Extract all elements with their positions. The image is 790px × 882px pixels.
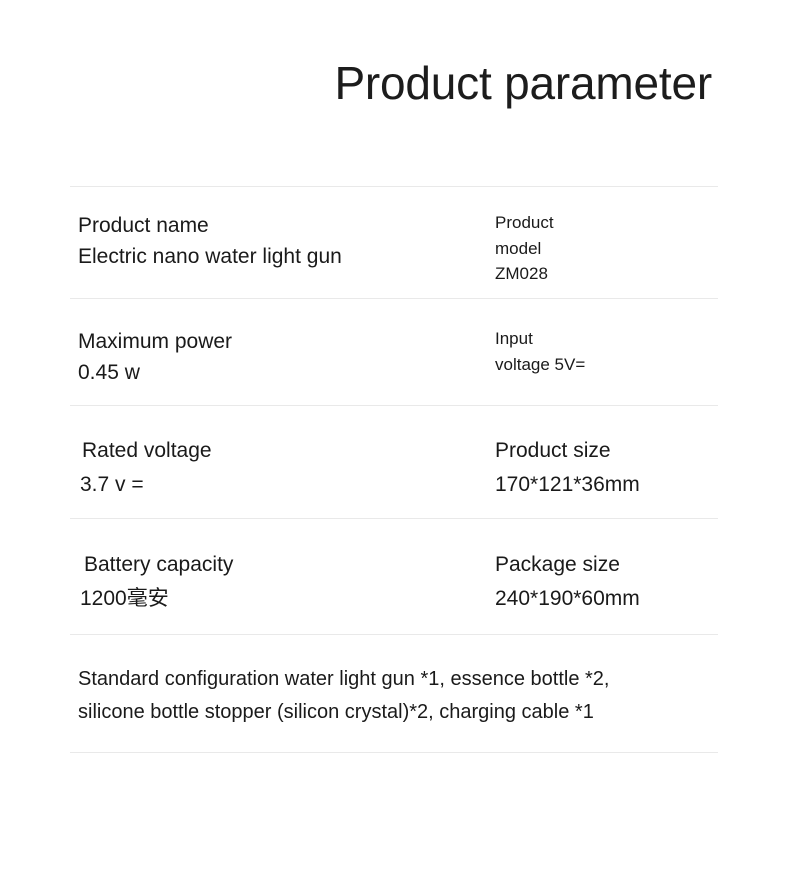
table-divider-bottom: [70, 752, 718, 753]
page-title-container: Product parameter: [0, 58, 712, 109]
specification-table: Product name Electric nano water light g…: [70, 186, 718, 753]
spec-cell-right: Package size 240*190*60mm: [495, 548, 718, 616]
product-parameter-page: Product parameter Product name Electric …: [0, 0, 790, 882]
table-row: Product name Electric nano water light g…: [70, 187, 718, 298]
spec-cell-left: Rated voltage 3.7 v =: [70, 434, 495, 502]
spec-cell-right: Product size 170*121*36mm: [495, 434, 718, 502]
table-row: Rated voltage 3.7 v = Product size 170*1…: [70, 406, 718, 518]
spec-label: Battery capacity: [80, 548, 495, 582]
spec-label: Input: [495, 326, 718, 352]
standard-configuration-note: Standard configuration water light gun *…: [70, 663, 609, 729]
spec-value: 170*121*36mm: [495, 468, 718, 502]
spec-cell-left: Battery capacity 1200毫安: [70, 548, 495, 616]
spec-label: Maximum power: [78, 326, 495, 357]
spec-value: 240*190*60mm: [495, 582, 718, 616]
spec-cell-left: Product name Electric nano water light g…: [70, 210, 495, 272]
spec-cell-right: Input voltage 5V=: [495, 326, 718, 377]
note-line-1: Standard configuration water light gun *…: [78, 663, 609, 696]
spec-value: 3.7 v =: [80, 468, 495, 502]
spec-label: Package size: [495, 548, 718, 582]
spec-label: Rated voltage: [80, 434, 495, 468]
table-row-note: Standard configuration water light gun *…: [70, 635, 718, 752]
spec-value: Electric nano water light gun: [78, 241, 495, 272]
spec-label: Product size: [495, 434, 718, 468]
spec-cell-left: Maximum power 0.45 w: [70, 326, 495, 388]
spec-label: Product name: [78, 210, 495, 241]
spec-value: ZM028: [495, 261, 718, 287]
table-row: Maximum power 0.45 w Input voltage 5V=: [70, 299, 718, 405]
spec-label-line1: Product: [495, 210, 718, 236]
spec-value: 0.45 w: [78, 357, 495, 388]
spec-value: voltage 5V=: [495, 352, 718, 378]
spec-label-line2: model: [495, 236, 718, 262]
spec-cell-right: Product model ZM028: [495, 210, 718, 287]
note-line-2: silicone bottle stopper (silicon crystal…: [78, 696, 609, 729]
table-row: Battery capacity 1200毫安 Package size 240…: [70, 519, 718, 634]
page-title: Product parameter: [334, 58, 712, 109]
spec-value: 1200毫安: [80, 582, 495, 616]
